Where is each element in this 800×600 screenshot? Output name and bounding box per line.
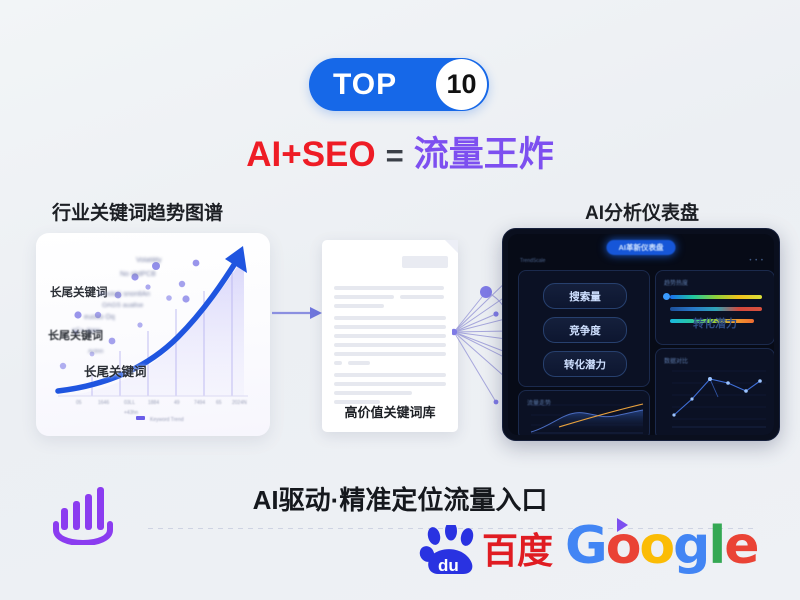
chip-search-volume[interactable]: 搜索量 — [543, 283, 627, 309]
analytics-bar-icon — [48, 483, 118, 545]
x-tick-1: 1646 — [98, 400, 109, 406]
page-title: AI+SEO=流量王炸 — [0, 126, 800, 177]
trend-keyword-label-3: 长尾关键词 — [84, 361, 147, 380]
doc-header-block — [402, 256, 448, 268]
dashboard-screen: AI革新仪表盘 TrendScale • • • 搜索量 竞争度 转化潜力 流量… — [508, 234, 774, 435]
headline-left: AI+SEO — [246, 135, 375, 174]
x-tick-4: 49 — [174, 400, 180, 406]
left-section-title: 行业关键词趋势图谱 — [52, 198, 223, 225]
google-letter-1: o — [606, 516, 640, 576]
google-letter-5: e — [724, 516, 757, 576]
poster-canvas: TOP 10 AI+SEO=流量王炸 行业关键词趋势图谱 AI分析仪表盘 — [0, 0, 800, 600]
x-tick-3: 1884 — [148, 400, 159, 406]
cloud-word-3: Moslo() snonllAn — [98, 291, 150, 298]
right-section-title: AI分析仪表盘 — [585, 198, 699, 225]
gauge-panel-caption: 趋势热度 — [664, 278, 688, 287]
trend-heat-panel: 趋势热度 转化潜力 — [655, 270, 774, 345]
dashboard-title-pill: AI革新仪表盘 — [607, 240, 676, 255]
baidu-cn-text: 百度 — [482, 533, 552, 569]
keyword-trend-card: 长尾关键词 长尾关键词 长尾关键词 Volatility No slidPCB … — [36, 233, 270, 436]
google-letter-2: o — [639, 516, 673, 576]
chip-competition[interactable]: 竞争度 — [543, 317, 627, 343]
x-tick-7: 2024N — [232, 400, 247, 406]
flow-arrow-icon — [272, 305, 322, 321]
cloud-word-2: No slidPCB — [120, 271, 156, 278]
gauge-overlay-label: 转化潜力 — [656, 315, 774, 331]
x-tick-2: 03LL — [124, 400, 135, 406]
ai-dashboard-card: AI革新仪表盘 TrendScale • • • 搜索量 竞争度 转化潜力 流量… — [502, 228, 780, 441]
headline-operator: = — [386, 138, 404, 173]
google-logo: Google — [565, 520, 758, 572]
metric-chips-panel: 搜索量 竞争度 转化潜力 — [518, 270, 650, 387]
x-tick-5: 7494 — [194, 400, 205, 406]
x-axis-label: +43hn — [124, 410, 138, 416]
cloud-word-4: OAGS auallse — [102, 302, 143, 309]
google-letter-3: g — [673, 516, 708, 576]
cloud-word-6: eC+ dgen — [72, 327, 100, 334]
cloud-word-5: euouo Oq — [84, 314, 115, 321]
badge-number: 10 — [446, 71, 476, 98]
traffic-area-panel: 流量走势 — [518, 390, 650, 435]
headline-right: 流量王炸 — [414, 135, 554, 174]
x-tick-6: 65 — [216, 400, 222, 406]
bottom-tagline: AI驱动·精准定位流量入口 — [0, 480, 800, 517]
baidu-logo: du 百度 — [418, 525, 558, 577]
cloud-word-7: Actrin — [88, 349, 103, 355]
chart-legend-label: Keyword Trend — [150, 417, 184, 423]
google-letter-0: G — [565, 516, 606, 576]
cloud-word-1: Volatility — [136, 257, 162, 264]
baidu-du-text: du — [438, 556, 459, 575]
dashboard-menu-icon[interactable]: • • • — [749, 258, 764, 264]
google-letter-4: l — [708, 516, 724, 576]
dashboard-brand-label: TrendScale — [520, 258, 545, 264]
top-rank-badge: TOP 10 — [309, 58, 489, 111]
badge-number-circle: 10 — [436, 59, 487, 110]
x-tick-0: 05 — [76, 400, 82, 406]
chip-conversion-potential[interactable]: 转化潜力 — [543, 351, 627, 377]
doc-card-label: 高价值关键词库 — [322, 402, 458, 421]
keyword-library-doc: 高价值关键词库 — [322, 240, 458, 432]
badge-top-label: TOP — [333, 70, 397, 100]
data-comparison-panel: 数据对比 — [655, 348, 774, 435]
